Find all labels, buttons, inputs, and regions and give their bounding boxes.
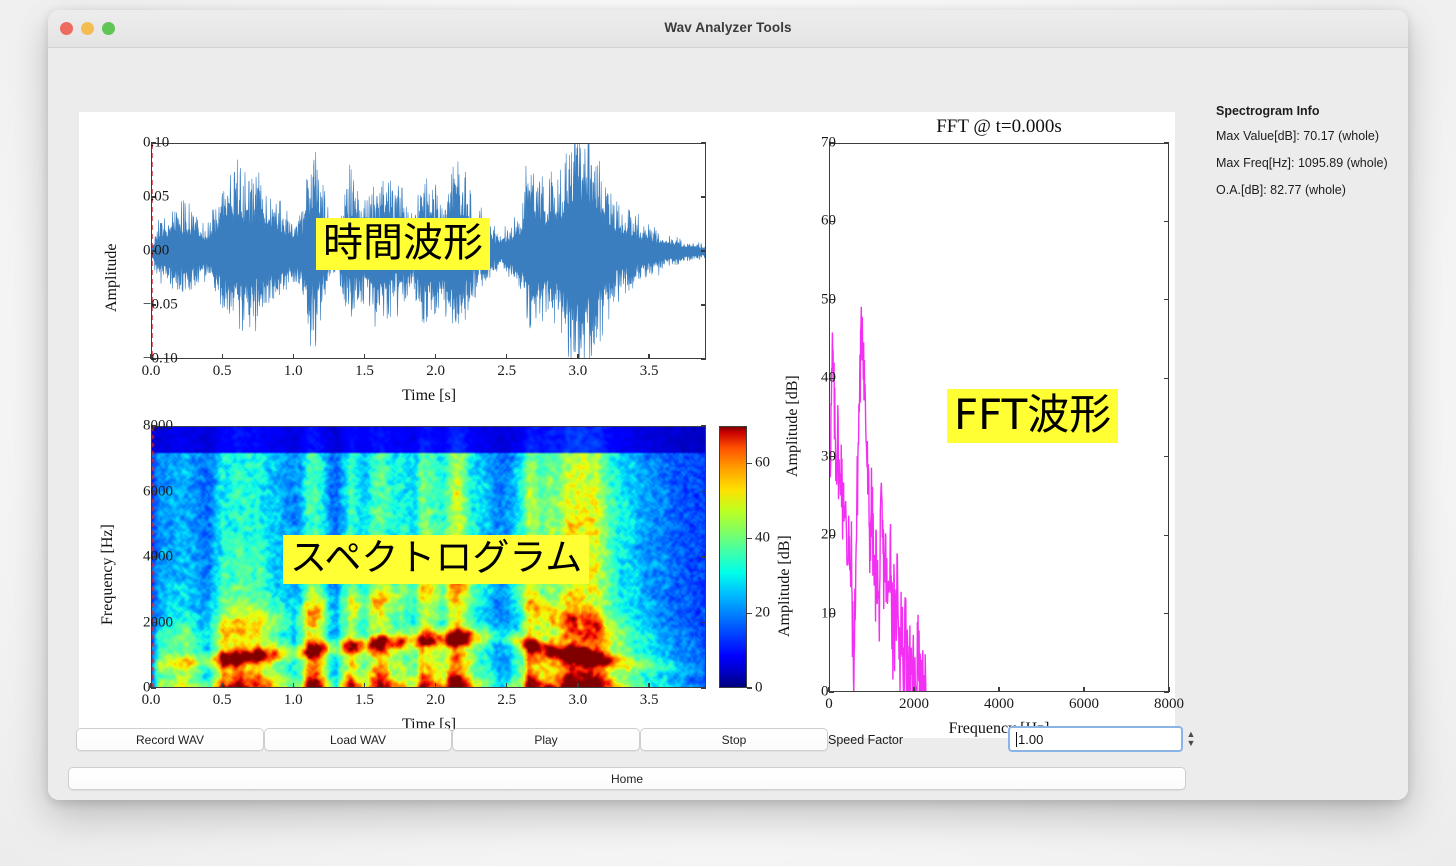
colorbar-tickmark — [747, 687, 752, 688]
spectrogram-info-panel: Spectrogram Info Max Value[dB]: 70.17 (w… — [1216, 104, 1408, 210]
colorbar-tickmark — [747, 463, 752, 464]
colorbar-ticklabel: 40 — [755, 530, 770, 547]
title-bar: Wav Analyzer Tools — [48, 10, 1408, 48]
waveform-xticklabel: 3.5 — [640, 363, 659, 380]
screen: Wav Analyzer Tools Amplitude Time [s] 時間… — [0, 0, 1456, 866]
spectrogram-ytickmark — [701, 425, 706, 426]
window-title: Wav Analyzer Tools — [48, 20, 1408, 35]
waveform-ytickmark — [701, 142, 706, 143]
spectrogram-xticklabel: 3.5 — [640, 692, 659, 709]
fft-ytickmark — [829, 691, 834, 692]
waveform-ytickmark — [701, 250, 706, 251]
speed-factor-input[interactable]: 1.00 — [1008, 726, 1183, 752]
record-wav-button[interactable]: Record WAV — [76, 728, 264, 751]
app-window: Wav Analyzer Tools Amplitude Time [s] 時間… — [48, 10, 1408, 800]
fft-annotation: FFT波形 — [947, 389, 1118, 443]
load-wav-button[interactable]: Load WAV — [264, 728, 452, 751]
chevron-down-icon[interactable]: ▼ — [1187, 740, 1196, 747]
home-button[interactable]: Home — [68, 767, 1186, 790]
fft-ytickmark — [1164, 221, 1169, 222]
colorbar-ticklabel: 0 — [755, 680, 763, 697]
spectrogram-ytickmark — [701, 687, 706, 688]
waveform-xticklabel: 3.0 — [569, 363, 588, 380]
fft-xticklabel: 6000 — [1069, 696, 1099, 713]
colorbar-label: Amplitude [dB] — [776, 535, 794, 637]
window-body: Amplitude Time [s] 時間波形 Frequency [Hz] T… — [48, 48, 1408, 800]
spectrogram-info-heading: Spectrogram Info — [1216, 104, 1408, 118]
waveform-xticklabel: 0.5 — [213, 363, 232, 380]
text-caret — [1016, 732, 1017, 747]
waveform-xticklabel: 2.5 — [497, 363, 516, 380]
fft-xticklabel: 4000 — [984, 696, 1014, 713]
spectrogram-xticklabel: 1.0 — [284, 692, 303, 709]
fft-xticklabel: 8000 — [1154, 696, 1184, 713]
fft-ytickmark — [1164, 535, 1169, 536]
play-button[interactable]: Play — [452, 728, 640, 751]
spectrogram-xticklabel: 2.0 — [426, 692, 445, 709]
fft-ylabel: Amplitude [dB] — [784, 375, 802, 477]
fft-ytickmark — [1164, 378, 1169, 379]
plots-panel: Amplitude Time [s] 時間波形 Frequency [Hz] T… — [79, 112, 1175, 738]
colorbar — [719, 426, 747, 688]
waveform-ytickmark — [701, 196, 706, 197]
info-max-value: Max Value[dB]: 70.17 (whole) — [1216, 129, 1408, 143]
chevron-up-icon[interactable]: ▲ — [1187, 731, 1196, 738]
spectrogram-xtickmark — [648, 683, 649, 688]
fft-ytickmark — [1164, 142, 1169, 143]
spectrogram-ytickmark — [701, 491, 706, 492]
spectrogram-xtickmark — [222, 683, 223, 688]
spectrogram-xtickmark — [506, 683, 507, 688]
fft-ytickmark — [1164, 691, 1169, 692]
waveform-xtickmark — [648, 354, 649, 359]
waveform-ylabel: Amplitude — [103, 244, 121, 312]
fft-xtickmark — [1083, 687, 1084, 692]
waveform-xtickmark — [293, 354, 294, 359]
fft-xtickmark — [913, 687, 914, 692]
colorbar-tickmark — [747, 613, 752, 614]
colorbar-tickmark — [747, 538, 752, 539]
waveform-xtickmark — [435, 354, 436, 359]
waveform-xlabel: Time [s] — [402, 387, 456, 405]
spectrogram-xticklabel: 1.5 — [355, 692, 374, 709]
waveform-xticklabel: 1.0 — [284, 363, 303, 380]
spectrogram-ytickmark — [151, 687, 156, 688]
fft-ytickmark — [1164, 299, 1169, 300]
speed-factor-value: 1.00 — [1018, 732, 1043, 747]
waveform-xtickmark — [364, 354, 365, 359]
waveform-xtickmark — [577, 354, 578, 359]
spectrogram-annotation: スペクトログラム — [283, 535, 589, 584]
spectrogram-xtickmark — [364, 683, 365, 688]
info-overall: O.A.[dB]: 82.77 (whole) — [1216, 183, 1408, 197]
fft-xtickmark — [998, 687, 999, 692]
spectrogram-xticklabel: 2.5 — [497, 692, 516, 709]
waveform-xtickmark — [222, 354, 223, 359]
info-max-freq: Max Freq[Hz]: 1095.89 (whole) — [1216, 156, 1408, 170]
waveform-xtickmark — [506, 354, 507, 359]
fft-title: FFT @ t=0.000s — [936, 116, 1062, 138]
stop-button[interactable]: Stop — [640, 728, 828, 751]
speed-factor-label: Speed Factor — [828, 728, 903, 752]
colorbar-ticklabel: 20 — [755, 605, 770, 622]
spectrogram-ytickmark — [701, 556, 706, 557]
fft-ytickmark — [1164, 456, 1169, 457]
waveform-ytickmark — [701, 304, 706, 305]
spectrogram-xtickmark — [577, 683, 578, 688]
speed-factor-stepper[interactable]: ▲ ▼ — [1184, 726, 1198, 752]
waveform-annotation: 時間波形 — [316, 218, 490, 270]
waveform-xticklabel: 2.0 — [426, 363, 445, 380]
waveform-ytickmark — [701, 358, 706, 359]
spectrogram-ylabel: Frequency [Hz] — [99, 524, 117, 625]
fft-xticklabel: 2000 — [899, 696, 929, 713]
spectrogram-xticklabel: 0.5 — [213, 692, 232, 709]
fft-ytickmark — [1164, 613, 1169, 614]
spectrogram-xtickmark — [435, 683, 436, 688]
waveform-xticklabel: 1.5 — [355, 363, 374, 380]
spectrogram-xticklabel: 3.0 — [569, 692, 588, 709]
colorbar-ticklabel: 60 — [755, 455, 770, 472]
spectrogram-xtickmark — [293, 683, 294, 688]
spectrogram-ytickmark — [701, 622, 706, 623]
